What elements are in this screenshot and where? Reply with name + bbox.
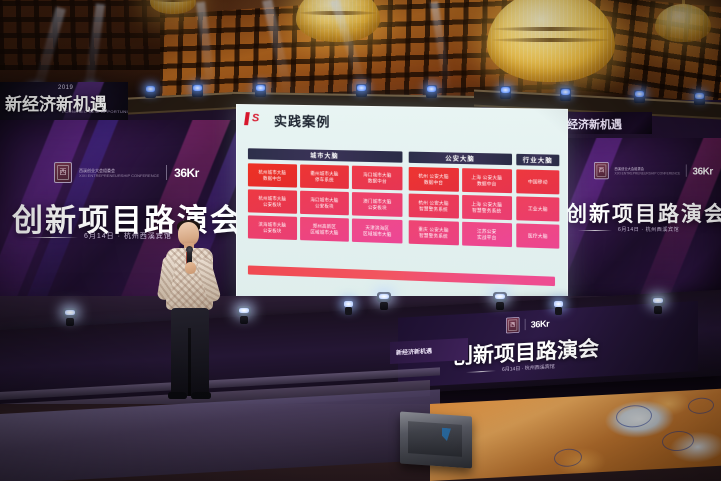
slide-card-line2: 实战平台 xyxy=(477,234,497,241)
s-logo-letter: S xyxy=(252,113,259,124)
slide-card-line2: 数据中台 xyxy=(477,180,497,187)
right-banner-title: 创新项目路演会 xyxy=(566,198,721,228)
stage-front-date: 6月14日 · 杭州西溪宾馆 xyxy=(502,363,555,373)
slide-card: 中国移动 xyxy=(516,169,559,194)
slide-content: S 实践案例 城市大脑杭州城市大脑数据中台衢州城市大脑停车系统海口城市大脑数据中… xyxy=(236,104,568,314)
partner-logo-36kr: 36Kr xyxy=(174,166,199,180)
slide-card: 杭州 公安大脑智慧警务系统 xyxy=(409,194,459,219)
light-base xyxy=(66,318,74,326)
light-base xyxy=(555,307,562,315)
slide-card-line2: 智慧警务系统 xyxy=(472,207,501,214)
chandelier-ring xyxy=(492,38,610,42)
event-header-subtitle: ECONOMIC NEW OPPORTUNITY xyxy=(62,109,128,114)
slide-card: 工业大脑 xyxy=(516,196,559,221)
light-lens xyxy=(653,298,663,303)
slide-card-line2: 公安板块 xyxy=(263,227,281,234)
light-lens xyxy=(495,294,505,299)
carpet-motif xyxy=(662,430,694,452)
light-base xyxy=(654,306,662,314)
chandelier xyxy=(296,0,380,42)
stage-floor-light xyxy=(342,300,355,315)
light-base xyxy=(496,302,504,310)
light-lens xyxy=(379,294,389,299)
slide-card-line2: 区域城市大脑 xyxy=(310,229,338,236)
chandelier-ring xyxy=(299,11,376,15)
truss-lamp xyxy=(634,90,645,103)
speaker-hand xyxy=(185,262,196,274)
light-base xyxy=(380,302,388,310)
slide-group: 公安大脑杭州 公安大脑数据中台上海 公安大脑数据中台杭州 公安大脑智慧警务系统上… xyxy=(409,152,512,248)
chandelier xyxy=(655,4,711,42)
s-logo-icon: S xyxy=(245,112,267,125)
chandelier-bowl xyxy=(296,0,380,42)
organizer-name-en: XIXI ENTREPRENEURSHIP CONFERENCE xyxy=(615,171,681,175)
speaker-shoe xyxy=(191,392,211,399)
seal-logo-char: 西 xyxy=(596,164,606,176)
chandelier-bowl xyxy=(655,4,711,42)
light-base xyxy=(240,316,248,324)
slide-card-line1: 工业大脑 xyxy=(528,206,548,213)
truss-lamp xyxy=(145,85,156,98)
slide-card-line2: 区域城市大脑 xyxy=(363,231,391,238)
moving-head-light xyxy=(650,296,666,314)
moving-head-light xyxy=(376,292,392,310)
logo-divider xyxy=(525,319,526,330)
s-logo-bar xyxy=(244,112,250,125)
slide-group-header: 城市大脑 xyxy=(248,148,403,162)
seal-logo-char: 西 xyxy=(57,165,69,180)
slide-card: 重庆 公安大脑智慧警务系统 xyxy=(409,220,459,245)
light-lens xyxy=(239,308,249,313)
light-base xyxy=(345,307,352,315)
carpet-motif xyxy=(616,404,652,428)
slide-card-line2: 智慧警务系统 xyxy=(419,232,448,239)
slide-group-header: 公安大脑 xyxy=(409,152,512,166)
slide-card: 澳门城市大脑公安板块 xyxy=(352,192,402,217)
slide-card-line2: 数据中台 xyxy=(424,179,443,186)
seal-logo-icon: 西 xyxy=(54,162,72,183)
slide-card: 医疗大脑 xyxy=(516,223,559,248)
truss-lamp xyxy=(356,84,367,97)
slide-card: 郑州高新区区域城市大脑 xyxy=(300,217,349,242)
ceiling-coffer-left xyxy=(0,0,175,70)
slide-card-line2: 数据中台 xyxy=(263,175,281,181)
projection-screen: S 实践案例 城市大脑杭州城市大脑数据中台衢州城市大脑停车系统海口城市大脑数据中… xyxy=(236,104,568,314)
slide-group-cards: 中国移动工业大脑医疗大脑 xyxy=(516,169,559,248)
logo-divider xyxy=(686,164,687,176)
slide-card-line2: 公安板块 xyxy=(263,201,281,208)
slide-group-header: 行业大脑 xyxy=(516,154,559,166)
chandelier xyxy=(487,0,615,82)
floor-carpet xyxy=(0,404,721,481)
moving-head-light xyxy=(236,306,252,324)
organizer-logos: 西 西溪创业大会组委会 XIXI ENTREPRENEURSHIP CONFER… xyxy=(594,162,713,179)
truss-lamp xyxy=(192,84,203,97)
slide-card-line2: 公安板块 xyxy=(368,204,387,211)
slide-card: 杭州 公安大脑数据中台 xyxy=(409,167,459,192)
slide-card: 滨海城市大脑公安板块 xyxy=(248,215,297,240)
seal-logo-icon: 西 xyxy=(594,162,609,179)
monitor-grille xyxy=(408,421,462,457)
slide-card: 上海 公安大脑数据中台 xyxy=(462,168,512,193)
stage-floor-light xyxy=(552,300,565,315)
carpet-motif xyxy=(688,397,714,414)
slide-card: 杭州城市大脑数据中台 xyxy=(248,163,297,187)
slide-title: 实践案例 xyxy=(274,111,331,131)
right-backdrop-banner: 西 西溪创业大会组委会 XIXI ENTREPRENEURSHIP CONFER… xyxy=(556,138,721,308)
slide-card-line1: 医疗大脑 xyxy=(528,233,548,240)
organizer-logos: 西 西溪创业大会组委会 XIXI ENTREPRENEURSHIP CONFER… xyxy=(54,162,199,183)
slide-card: 海口城市大脑公安板块 xyxy=(300,191,349,216)
slide-group: 行业大脑中国移动工业大脑医疗大脑 xyxy=(516,154,559,249)
logo-divider xyxy=(166,165,167,180)
speaker-trousers xyxy=(171,308,209,396)
slide-card: 海口城市大脑数据中台 xyxy=(352,166,402,191)
slide-card: 杭州城市大脑公安板块 xyxy=(248,189,297,213)
seal-logo-icon: 西 xyxy=(506,317,520,334)
slide-card-line2: 数据中台 xyxy=(368,178,387,185)
speaker-presenter xyxy=(158,222,220,400)
slide-card-line1: 中国移动 xyxy=(528,178,548,185)
event-header-banner: 2019 新经济新机遇 ECONOMIC NEW OPPORTUNITY xyxy=(0,82,128,122)
chandelier-ring xyxy=(492,27,610,31)
slide-group-cards: 杭州城市大脑数据中台衢州城市大脑停车系统海口城市大脑数据中台杭州城市大脑公安板块… xyxy=(248,163,403,243)
slide-footer-bar xyxy=(248,265,555,286)
banner-rule xyxy=(578,230,612,231)
slide-card-line2: 智慧警务系统 xyxy=(419,206,448,213)
carpet-motif xyxy=(554,448,582,467)
stage-left-strip: 新经济新机遇 xyxy=(390,338,468,364)
slide-card: 天津滨海区区域城市大脑 xyxy=(352,218,402,243)
truss-lamp xyxy=(560,88,571,101)
moving-head-light xyxy=(62,308,78,326)
right-banner-date: 6月14日 · 杭州西溪宾馆 xyxy=(618,226,679,233)
slide-card: 江苏公安实战平台 xyxy=(462,222,512,247)
truss-lamp xyxy=(694,92,705,105)
speaker-shoe xyxy=(168,392,187,399)
slide-group: 城市大脑杭州城市大脑数据中台衢州城市大脑停车系统海口城市大脑数据中台杭州城市大脑… xyxy=(248,148,403,243)
slide-card-line2: 停车系统 xyxy=(315,176,334,183)
truss-lamp xyxy=(500,86,511,99)
organizer-name-en: XIXI ENTREPRENEURSHIP CONFERENCE xyxy=(79,173,159,178)
truss-lamp xyxy=(255,84,266,97)
moving-head-light xyxy=(492,292,508,310)
carpet-patterned-section xyxy=(430,389,721,481)
slide-card: 上海 公安大脑智慧警务系统 xyxy=(462,195,512,220)
organizer-name: 西溪创业大会组委会 XIXI ENTREPRENEURSHIP CONFEREN… xyxy=(615,167,681,175)
stage-left-strip-title: 新经济新机遇 xyxy=(396,346,432,357)
carpet-left-section xyxy=(0,389,440,481)
truss-lamp xyxy=(426,85,437,98)
stage-monitor-speaker xyxy=(400,414,472,466)
conference-stage-photo: 2019 新经济新机遇 ECONOMIC NEW OPPORTUNITY 西 西… xyxy=(0,0,721,481)
slide-card: 衢州城市大脑停车系统 xyxy=(300,164,349,188)
banner-rule xyxy=(26,237,78,238)
slide-group-cards: 杭州 公安大脑数据中台上海 公安大脑数据中台杭州 公安大脑智慧警务系统上海 公安… xyxy=(409,167,512,247)
partner-logo-36kr: 36Kr xyxy=(693,165,713,176)
organizer-logos: 西 36Kr xyxy=(506,315,549,333)
partner-logo-36kr: 36Kr xyxy=(531,318,550,330)
organizer-name: 西溪创业大会组委会 XIXI ENTREPRENEURSHIP CONFEREN… xyxy=(79,168,159,178)
seal-logo-char: 西 xyxy=(508,319,517,331)
slide-card-line2: 公安板块 xyxy=(315,203,334,210)
banner-rule xyxy=(466,370,496,373)
light-lens xyxy=(65,310,75,315)
